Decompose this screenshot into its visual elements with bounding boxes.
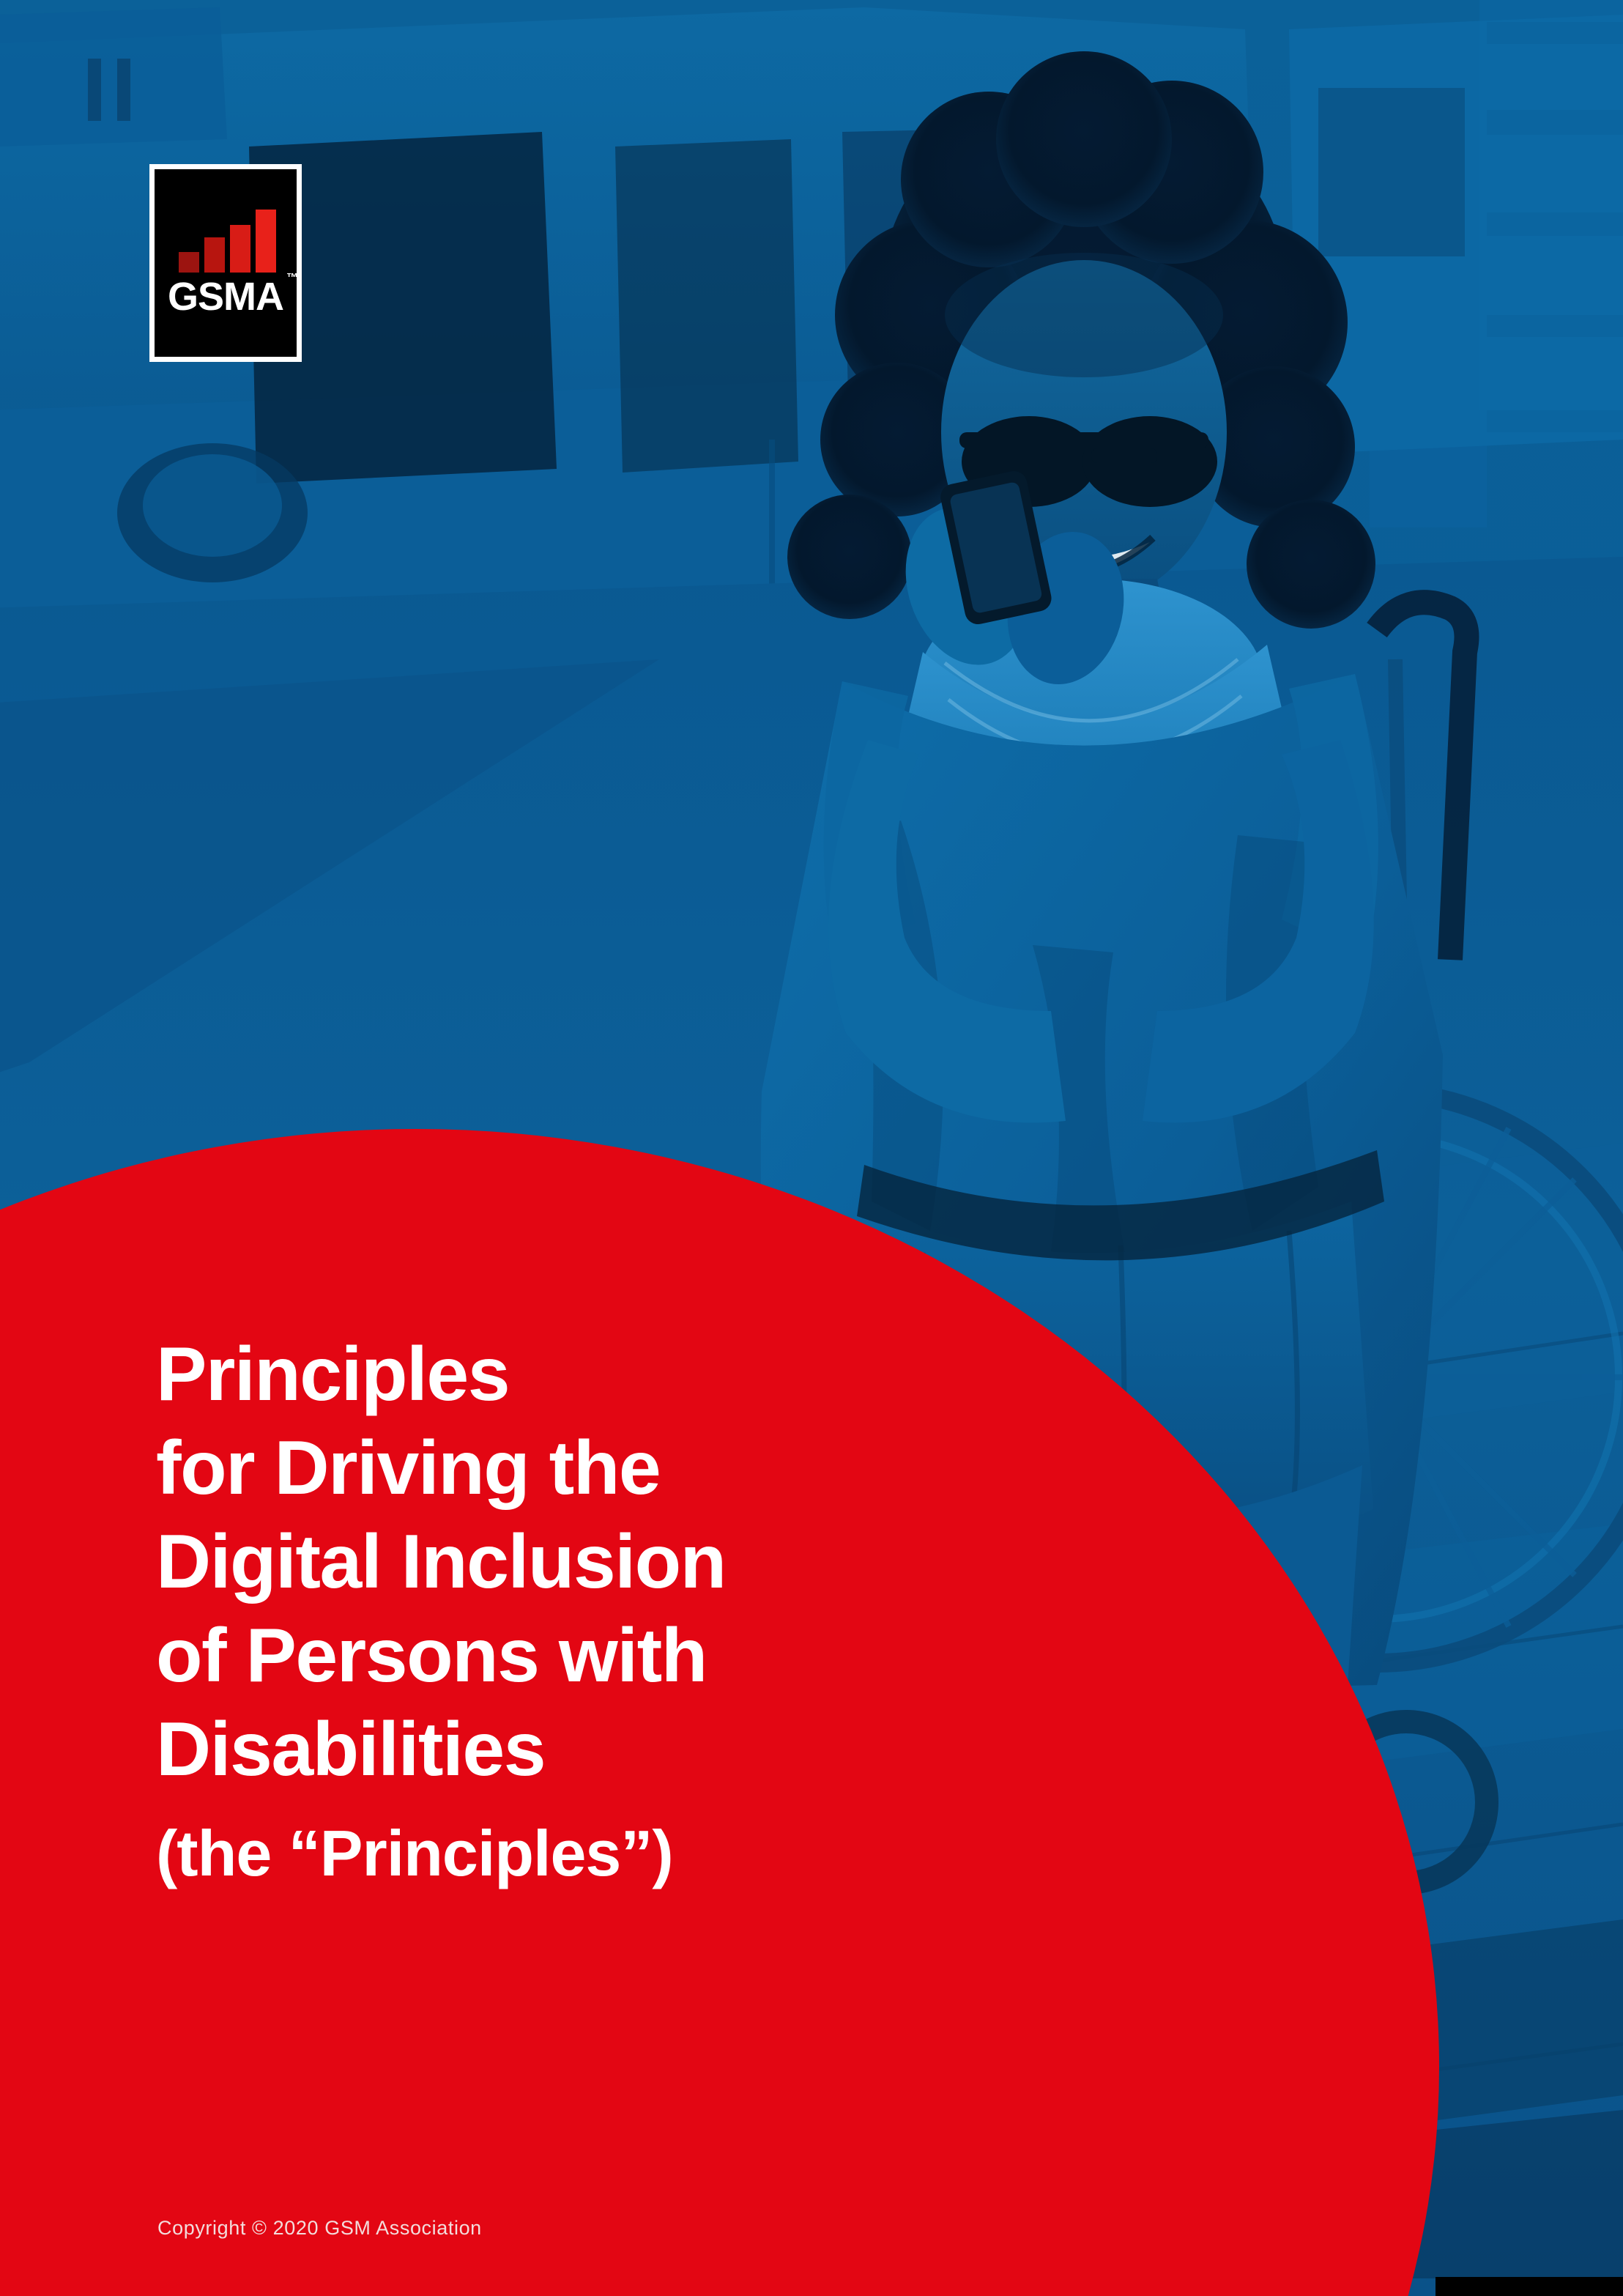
page-title-line-1: Principles — [156, 1327, 1072, 1421]
gsma-wordmark: GSMA ™ — [168, 277, 283, 316]
page-title-line-4: of Persons with — [156, 1609, 1072, 1703]
signal-bar-4 — [256, 210, 276, 273]
signal-bar-1 — [179, 252, 199, 273]
gsma-wordmark-text: GSMA — [168, 275, 283, 319]
bottom-black-strip — [1436, 2277, 1623, 2296]
page-title-line-2: for Driving the — [156, 1421, 1072, 1515]
signal-bar-2 — [204, 237, 225, 273]
gsma-logo: GSMA ™ — [149, 164, 302, 362]
trademark-icon: ™ — [286, 273, 298, 284]
cover-title-block: Principles for Driving the Digital Inclu… — [156, 1327, 1072, 1895]
page-subtitle: (the “Principles”) — [156, 1812, 1072, 1895]
document-cover-page: GSMA ™ Principles for Driving the Digita… — [0, 0, 1623, 2296]
copyright-notice: Copyright © 2020 GSM Association — [157, 2217, 482, 2240]
page-title-line-5: Disabilities — [156, 1703, 1072, 1796]
gsma-signal-bars-icon — [179, 210, 276, 273]
signal-bar-3 — [230, 225, 250, 273]
page-title-line-3: Digital Inclusion — [156, 1515, 1072, 1609]
